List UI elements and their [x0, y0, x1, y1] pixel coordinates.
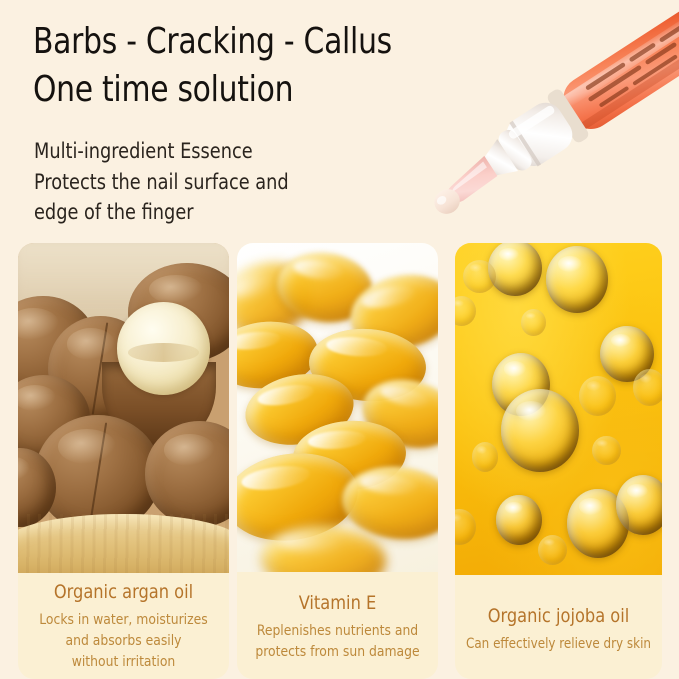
ingredient-description: Can effectively relieve dry skin — [466, 634, 651, 654]
ingredient-description: Locks in water, moisturizes and absorbs … — [29, 610, 218, 673]
ingredient-title: Organic jojoba oil — [466, 605, 651, 629]
vitamin-e-photo — [237, 243, 438, 572]
page-subtitle: Multi-ingredient Essence Protects the na… — [34, 136, 429, 228]
product-infographic: Barbs - Cracking - Callus One time solut… — [0, 0, 679, 679]
vitamin-e-caption: Vitamin E Replenishes nutrients and prot… — [237, 572, 438, 663]
ingredient-card-jojoba[interactable]: Organic jojoba oil Can effectively relie… — [455, 243, 662, 679]
argan-photo — [18, 243, 229, 573]
jojoba-photo — [455, 243, 662, 575]
ingredient-description: Replenishes nutrients and protects from … — [248, 621, 428, 663]
argan-caption: Organic argan oil Locks in water, moistu… — [18, 573, 229, 672]
ingredient-title: Vitamin E — [248, 592, 428, 616]
jojoba-caption: Organic jojoba oil Can effectively relie… — [455, 575, 662, 654]
ingredient-title: Organic argan oil — [29, 581, 218, 605]
ingredient-card-argan[interactable]: Organic argan oil Locks in water, moistu… — [18, 243, 229, 679]
ingredient-card-vitamin-e[interactable]: Vitamin E Replenishes nutrients and prot… — [237, 243, 438, 679]
page-title: Barbs - Cracking - Callus One time solut… — [33, 18, 511, 113]
header-section: Barbs - Cracking - Callus One time solut… — [0, 0, 679, 240]
ingredient-card-row: Organic argan oil Locks in water, moistu… — [0, 243, 679, 679]
